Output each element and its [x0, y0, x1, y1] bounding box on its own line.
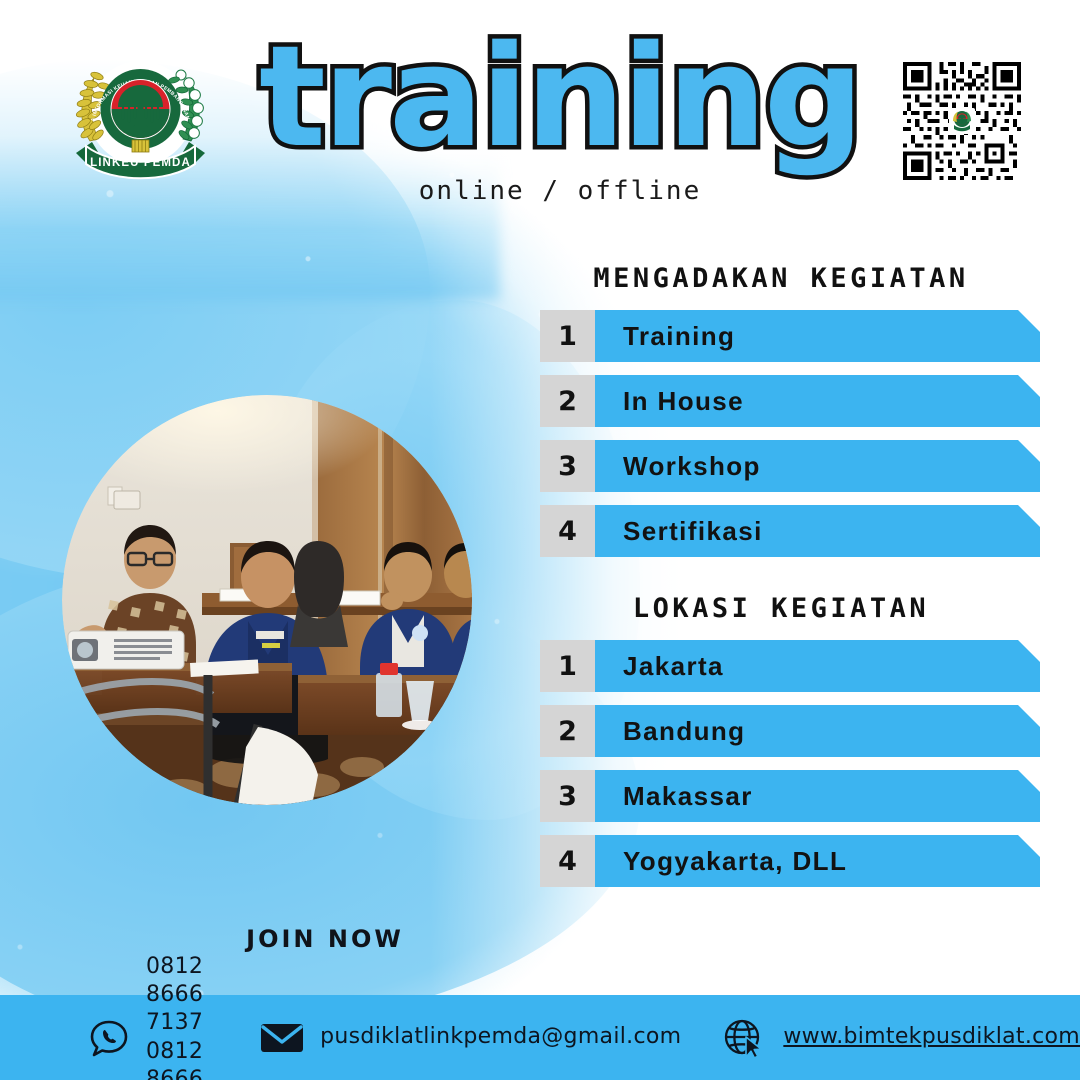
globe-cursor-icon — [721, 1015, 767, 1061]
page-title: training — [250, 28, 870, 168]
list-item-bar[interactable]: Makassar — [595, 770, 1040, 822]
section-mengadakan-kegiatan: MENGADAKAN KEGIATAN 1 Training 2 In Hous… — [540, 263, 1040, 570]
list-item[interactable]: 2 Bandung — [540, 705, 1040, 757]
contact-footer: 0812 8666 7137 0812 8666 3857 pusdiklatl… — [0, 995, 1080, 1080]
title-block: training online / offline — [250, 28, 870, 206]
list-item[interactable]: 1 Training — [540, 310, 1040, 362]
list-item-bar[interactable]: Bandung — [595, 705, 1040, 757]
list-item-label: Workshop — [623, 451, 761, 482]
list-item[interactable]: 1 Jakarta — [540, 640, 1040, 692]
list-item-bar[interactable]: Workshop — [595, 440, 1040, 492]
list-item-label: In House — [623, 386, 744, 417]
phone-line-1: 0812 8666 7137 — [146, 953, 216, 1037]
list-item-label: Training — [623, 321, 735, 352]
envelope-icon — [260, 1021, 304, 1055]
qr-code[interactable] — [903, 62, 1021, 180]
list-item[interactable]: 3 Workshop — [540, 440, 1040, 492]
list-item-number: 3 — [540, 770, 595, 822]
qr-center-logo — [949, 108, 975, 134]
linkeu-pemda-logo: LEMBAGA INFORMASI KEUANGAN DAN PEMBANGUN… — [68, 45, 213, 190]
list-item-label: Yogyakarta, DLL — [623, 846, 847, 877]
watercolor-right-fade — [430, 90, 710, 1050]
list-item-label: Sertifikasi — [623, 516, 763, 547]
phone-chat-icon — [88, 1017, 130, 1059]
email-address: pusdiklatlinkpemda@gmail.com — [320, 1023, 681, 1051]
list-item[interactable]: 3 Makassar — [540, 770, 1040, 822]
contact-email[interactable]: pusdiklatlinkpemda@gmail.com — [260, 1021, 681, 1055]
section-heading: LOKASI KEGIATAN — [540, 593, 1040, 624]
list-item-number: 3 — [540, 440, 595, 492]
list-item-number: 4 — [540, 505, 595, 557]
list-item-number: 4 — [540, 835, 595, 887]
training-photo — [62, 395, 472, 805]
list-item-number: 1 — [540, 310, 595, 362]
website-url[interactable]: www.bimtekpusdiklat.com — [783, 1023, 1080, 1051]
list-item-number: 1 — [540, 640, 595, 692]
list-item-bar[interactable]: Training — [595, 310, 1040, 362]
join-now-label[interactable]: JOIN NOW — [175, 925, 475, 953]
list-item-number: 2 — [540, 705, 595, 757]
list-item-label: Jakarta — [623, 651, 724, 682]
contact-phone[interactable]: 0812 8666 7137 0812 8666 3857 — [88, 953, 216, 1080]
list-item[interactable]: 4 Yogyakarta, DLL — [540, 835, 1040, 887]
list-item[interactable]: 4 Sertifikasi — [540, 505, 1040, 557]
list-item-label: Bandung — [623, 716, 745, 747]
list-item-bar[interactable]: Yogyakarta, DLL — [595, 835, 1040, 887]
list-item-bar[interactable]: Sertifikasi — [595, 505, 1040, 557]
phone-line-2: 0812 8666 3857 — [146, 1038, 216, 1080]
page-subtitle: online / offline — [250, 176, 870, 206]
list-item[interactable]: 2 In House — [540, 375, 1040, 427]
section-lokasi-kegiatan: LOKASI KEGIATAN 1 Jakarta 2 Bandung 3 Ma… — [540, 593, 1040, 900]
poster-canvas: LEMBAGA INFORMASI KEUANGAN DAN PEMBANGUN… — [0, 0, 1080, 1080]
svg-text:LINKEU PEMDA: LINKEU PEMDA — [90, 157, 191, 169]
list-item-bar[interactable]: Jakarta — [595, 640, 1040, 692]
list-item-bar[interactable]: In House — [595, 375, 1040, 427]
section-heading: MENGADAKAN KEGIATAN — [540, 263, 1040, 294]
phone-numbers: 0812 8666 7137 0812 8666 3857 — [146, 953, 216, 1080]
list-item-label: Makassar — [623, 781, 753, 812]
list-item-number: 2 — [540, 375, 595, 427]
contact-website[interactable]: www.bimtekpusdiklat.com — [721, 1015, 1080, 1061]
